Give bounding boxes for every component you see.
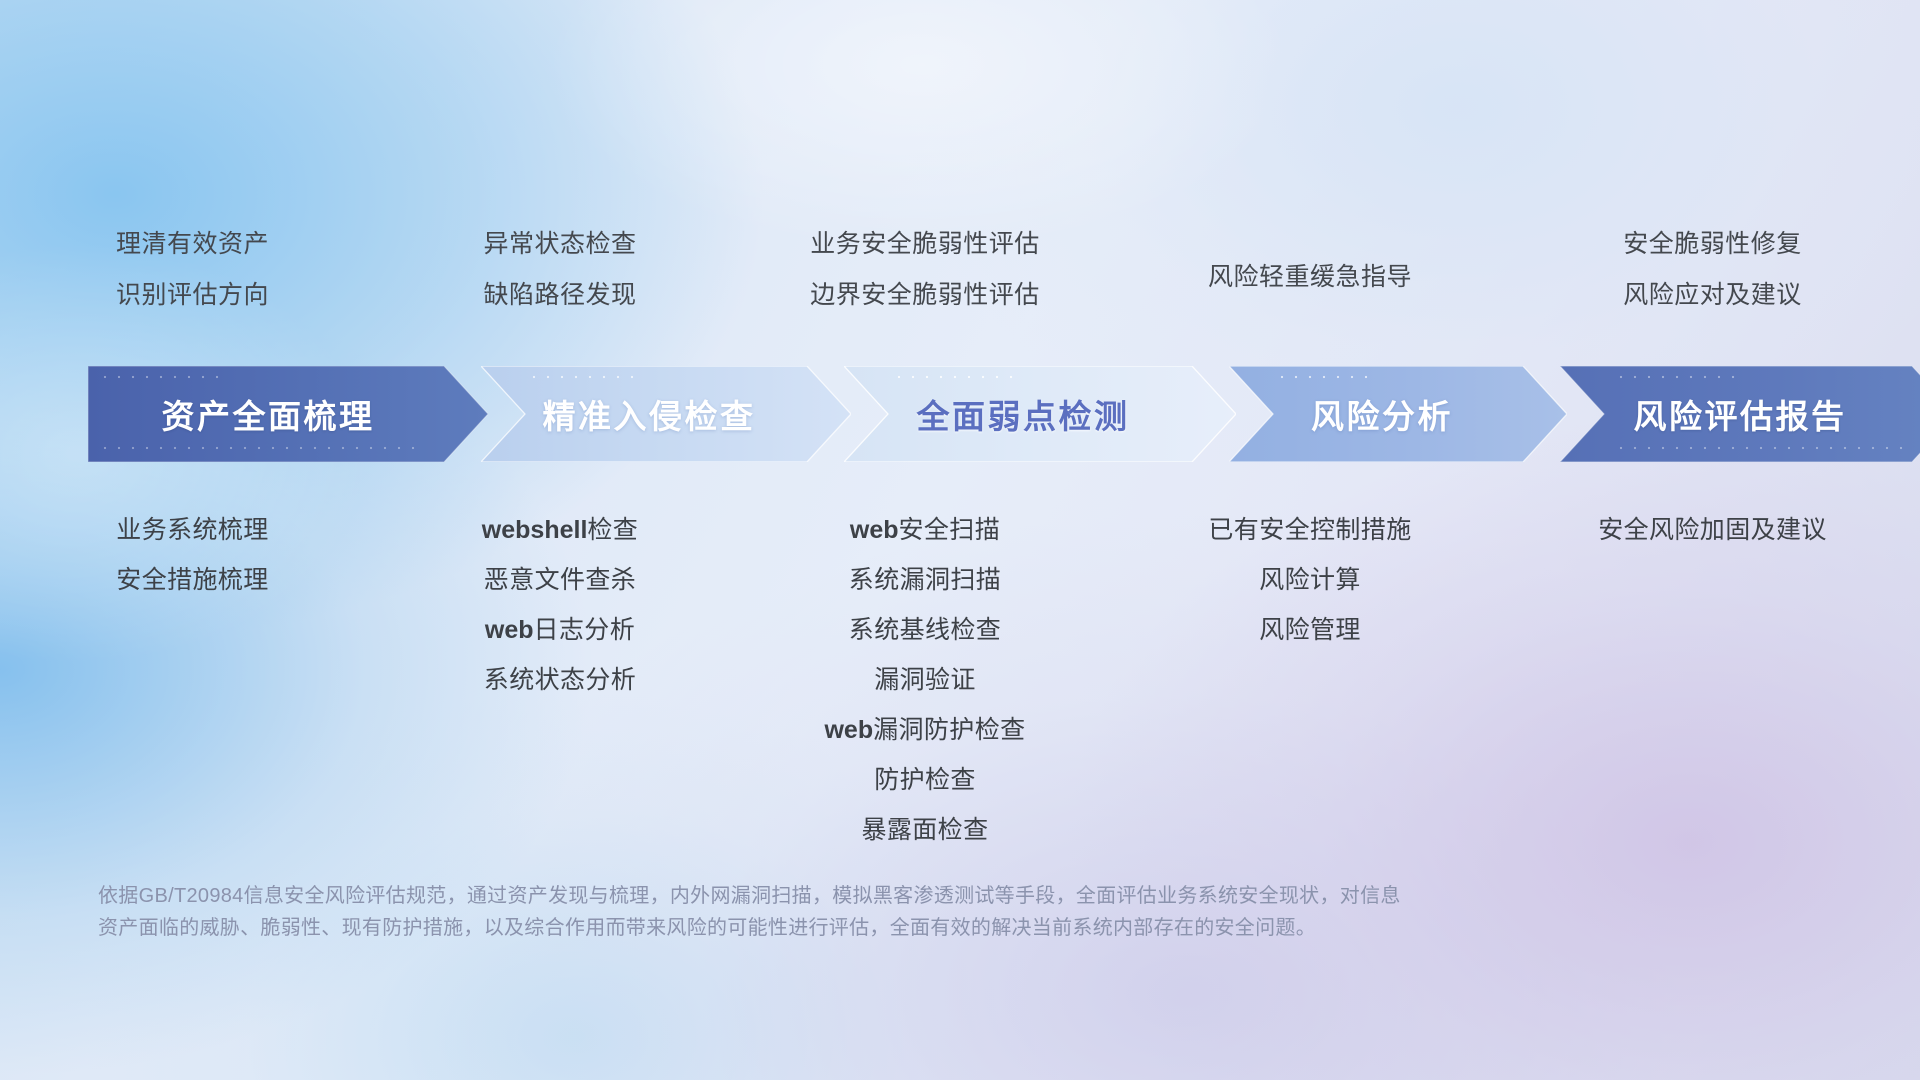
stage-chevron-strip: 资产全面梳理 [88, 366, 1856, 462]
top-column-intrusion-check: 异常状态检查 缺陷路径发现 [385, 232, 735, 308]
top-item: 风险轻重缓急指导 [1115, 265, 1505, 290]
detail-item: 已有安全控制措施 [1115, 518, 1505, 543]
detail-item: webshell检查 [385, 518, 735, 543]
top-item: 识别评估方向 [0, 283, 385, 308]
detail-item: 防护检查 [735, 768, 1115, 793]
top-item: 边界安全脆弱性评估 [735, 283, 1115, 308]
chevron-stage-intrusion-check[interactable]: 精准入侵检查 [481, 366, 851, 462]
detail-item: 系统基线检查 [735, 618, 1115, 643]
bottom-column-risk-analysis: 已有安全控制措施 风险计算 风险管理 [1115, 518, 1505, 643]
chevron-stage-weakness-detection[interactable]: 全面弱点检测 [844, 366, 1236, 462]
top-descriptor-band: 理清有效资产 识别评估方向 异常状态检查 缺陷路径发现 业务安全脆弱性评估 边界… [0, 232, 1920, 308]
chevron-label: 风险分析 [1311, 390, 1453, 438]
detail-item: 系统漏洞扫描 [735, 568, 1115, 593]
chevron-label: 资产全面梳理 [162, 390, 375, 438]
chevron-label: 风险评估报告 [1634, 390, 1847, 438]
top-item: 安全脆弱性修复 [1505, 232, 1920, 257]
top-item: 异常状态检查 [385, 232, 735, 257]
footer-line: 依据GB/T20984信息安全风险评估规范，通过资产发现与梳理，内外网漏洞扫描，… [98, 880, 1628, 912]
bottom-detail-band: 业务系统梳理 安全措施梳理 webshell检查 恶意文件查杀 web日志分析 … [0, 518, 1920, 843]
footer-line: 资产面临的威胁、脆弱性、现有防护措施，以及综合作用而带来风险的可能性进行评估，全… [98, 912, 1628, 944]
chevron-label: 全面弱点检测 [917, 390, 1130, 438]
chevron-label: 精准入侵检查 [543, 390, 756, 438]
top-column-risk-analysis: 风险轻重缓急指导 [1115, 232, 1505, 290]
detail-item: web日志分析 [385, 618, 735, 643]
detail-item: 暴露面检查 [735, 818, 1115, 843]
chevron-stage-risk-report[interactable]: 风险评估报告 [1560, 366, 1920, 462]
footer-description: 依据GB/T20984信息安全风险评估规范，通过资产发现与梳理，内外网漏洞扫描，… [98, 880, 1628, 945]
top-column-risk-report: 安全脆弱性修复 风险应对及建议 [1505, 232, 1920, 308]
detail-item: 系统状态分析 [385, 668, 735, 693]
bottom-column-risk-report: 安全风险加固及建议 [1505, 518, 1920, 543]
top-item: 缺陷路径发现 [385, 283, 735, 308]
top-item: 理清有效资产 [0, 232, 385, 257]
detail-item: 安全措施梳理 [0, 568, 385, 593]
detail-item: 风险管理 [1115, 618, 1505, 643]
detail-item: 风险计算 [1115, 568, 1505, 593]
detail-item: 漏洞验证 [735, 668, 1115, 693]
top-column-asset-inventory: 理清有效资产 识别评估方向 [0, 232, 385, 308]
detail-item: 恶意文件查杀 [385, 568, 735, 593]
top-item: 业务安全脆弱性评估 [735, 232, 1115, 257]
process-flow-diagram: 理清有效资产 识别评估方向 异常状态检查 缺陷路径发现 业务安全脆弱性评估 边界… [0, 0, 1920, 1080]
detail-item: 业务系统梳理 [0, 518, 385, 543]
detail-item: web漏洞防护检查 [735, 718, 1115, 743]
top-item: 风险应对及建议 [1505, 283, 1920, 308]
detail-item: 安全风险加固及建议 [1505, 518, 1920, 543]
bottom-column-intrusion-check: webshell检查 恶意文件查杀 web日志分析 系统状态分析 [385, 518, 735, 693]
top-column-weakness-detection: 业务安全脆弱性评估 边界安全脆弱性评估 [735, 232, 1115, 308]
bottom-column-asset-inventory: 业务系统梳理 安全措施梳理 [0, 518, 385, 593]
bottom-column-weakness-detection: web安全扫描 系统漏洞扫描 系统基线检查 漏洞验证 web漏洞防护检查 防护检… [735, 518, 1115, 843]
chevron-stage-risk-analysis[interactable]: 风险分析 [1229, 366, 1567, 462]
detail-item: web安全扫描 [735, 518, 1115, 543]
chevron-stage-asset-inventory[interactable]: 资产全面梳理 [88, 366, 488, 462]
